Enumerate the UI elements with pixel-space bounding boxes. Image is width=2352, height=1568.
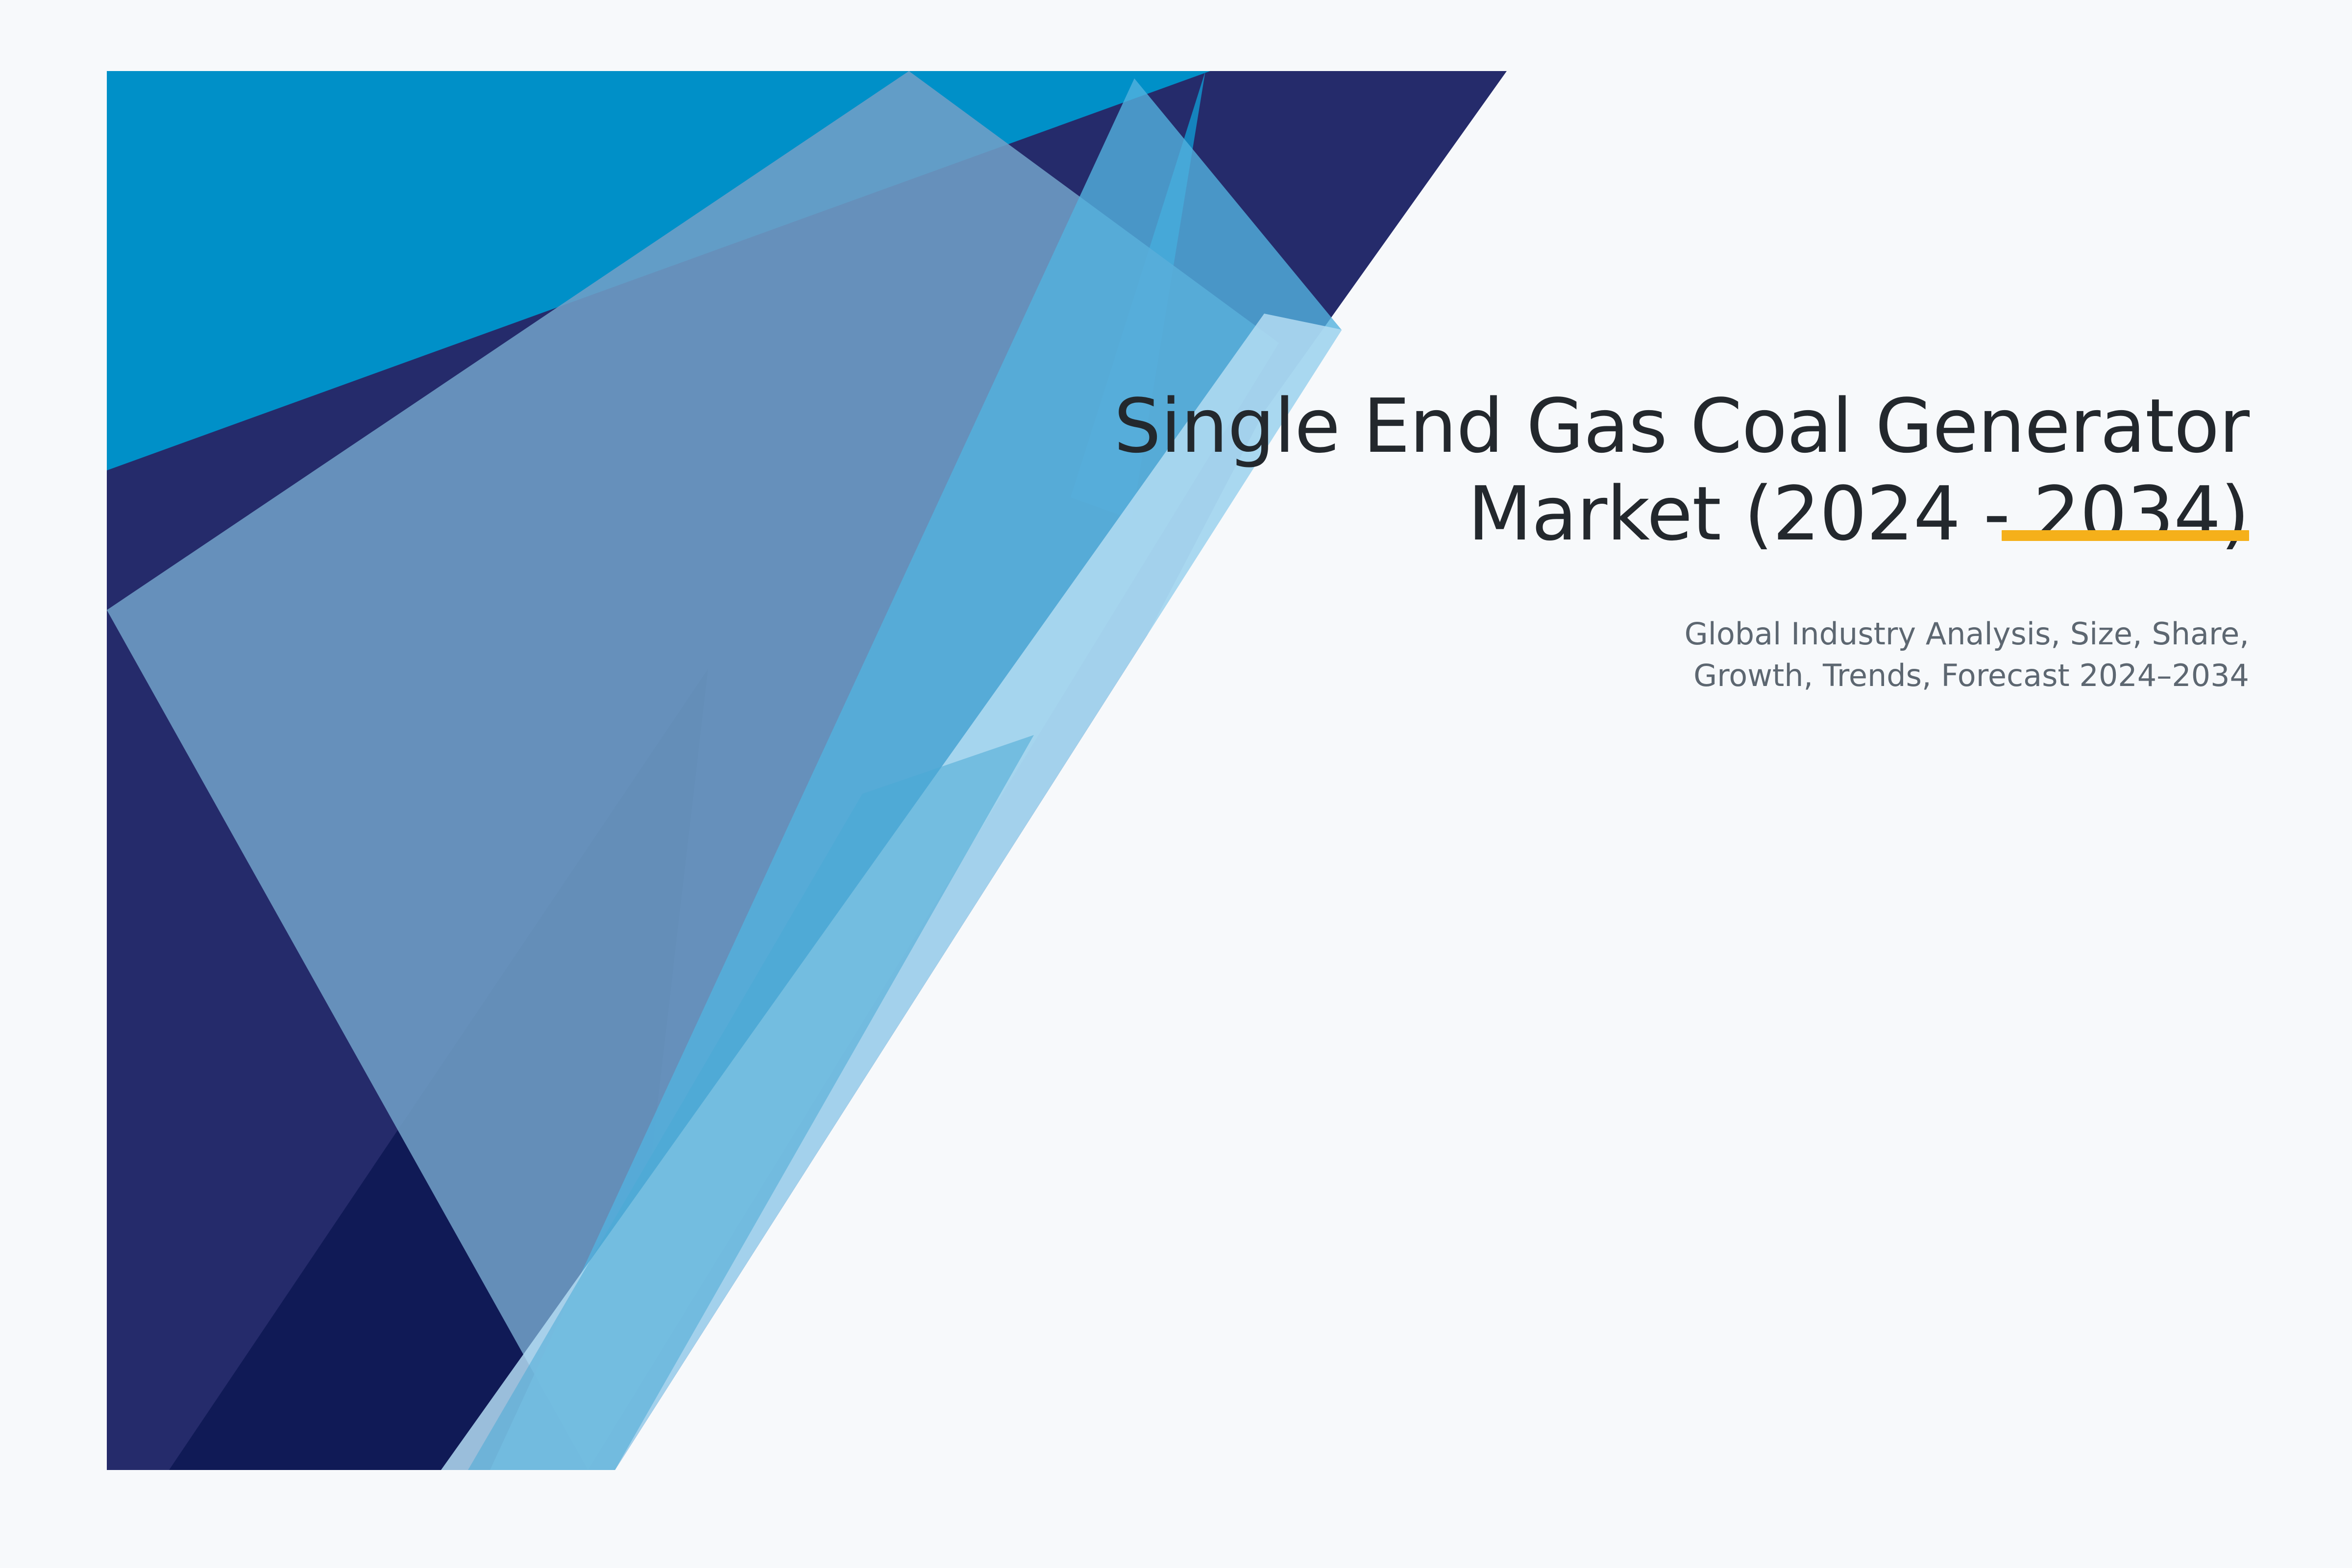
report-cover: Single End Gas Coal GeneratorMarket (202… — [0, 0, 2352, 1568]
abstract-polygon-graphic — [0, 0, 2352, 1568]
shape-cyan-field — [107, 71, 1210, 720]
page-subtitle-line-1: Global Industry Analysis, Size, Share, — [1685, 616, 2249, 652]
shape-steel-blue-overlay — [107, 71, 1279, 1470]
page-subtitle: Global Industry Analysis, Size, Share,Gr… — [1068, 613, 2249, 697]
shape-sky-blue-band — [490, 78, 1352, 1470]
page-title-line-2: Market (2024 - 2034) — [1468, 470, 2249, 557]
shape-deep-navy-triangle — [169, 669, 708, 1470]
shape-navy-field — [107, 71, 1507, 1470]
page-subtitle-line-2: Growth, Trends, Forecast 2024–2034 — [1693, 658, 2249, 693]
shape-navy-wedge — [107, 71, 1210, 1470]
page-title-line-1: Single End Gas Coal Generator — [1114, 383, 2249, 469]
title-accent-underline — [2002, 530, 2249, 541]
shape-light-blue-sliver — [468, 735, 1034, 1470]
